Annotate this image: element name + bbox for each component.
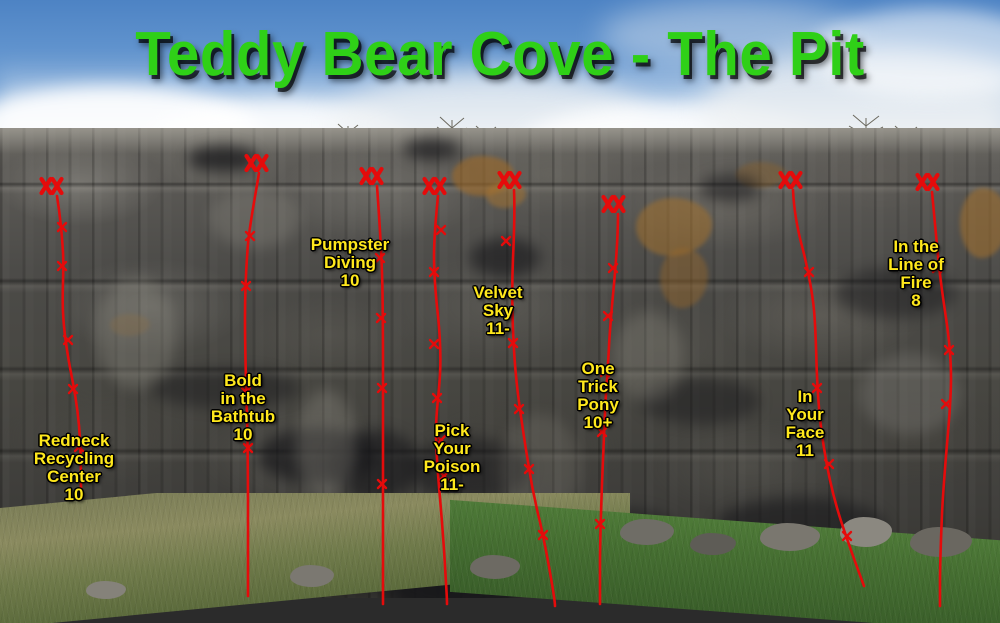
bolt-marker-icon (437, 226, 445, 234)
anchor-xx-icon (918, 175, 938, 189)
anchor-xx-icon (604, 197, 624, 211)
route-bold-in-the-bathtub[interactable] (242, 156, 267, 596)
anchor-xx-icon (42, 179, 62, 193)
anchor-xx-icon (500, 173, 520, 187)
route-line (377, 186, 383, 604)
route-pick-your-poison[interactable] (425, 179, 449, 604)
route-line (793, 190, 864, 586)
route-velvet-sky[interactable] (500, 173, 556, 606)
route-in-the-line-of-fire[interactable] (918, 175, 954, 606)
route-overlay (0, 0, 1000, 623)
anchor-xx-icon (425, 179, 445, 193)
anchor-xx-icon (781, 173, 801, 187)
route-in-your-face[interactable] (781, 173, 865, 586)
anchor-xx-icon (247, 156, 267, 170)
route-one-trick-pony[interactable] (596, 197, 624, 604)
anchor-xx-icon (362, 169, 382, 183)
route-pumpster-diving[interactable] (362, 169, 387, 604)
route-line (512, 190, 555, 606)
topo-photo: Teddy Bear Cove - The Pit RedneckRecycli… (0, 0, 1000, 623)
bolt-marker-icon (502, 237, 510, 245)
bolt-marker-icon (430, 340, 438, 348)
bolt-marker-icon (440, 472, 448, 480)
bolt-marker-icon (437, 436, 445, 444)
route-redneck-recycling-center[interactable] (42, 179, 84, 490)
